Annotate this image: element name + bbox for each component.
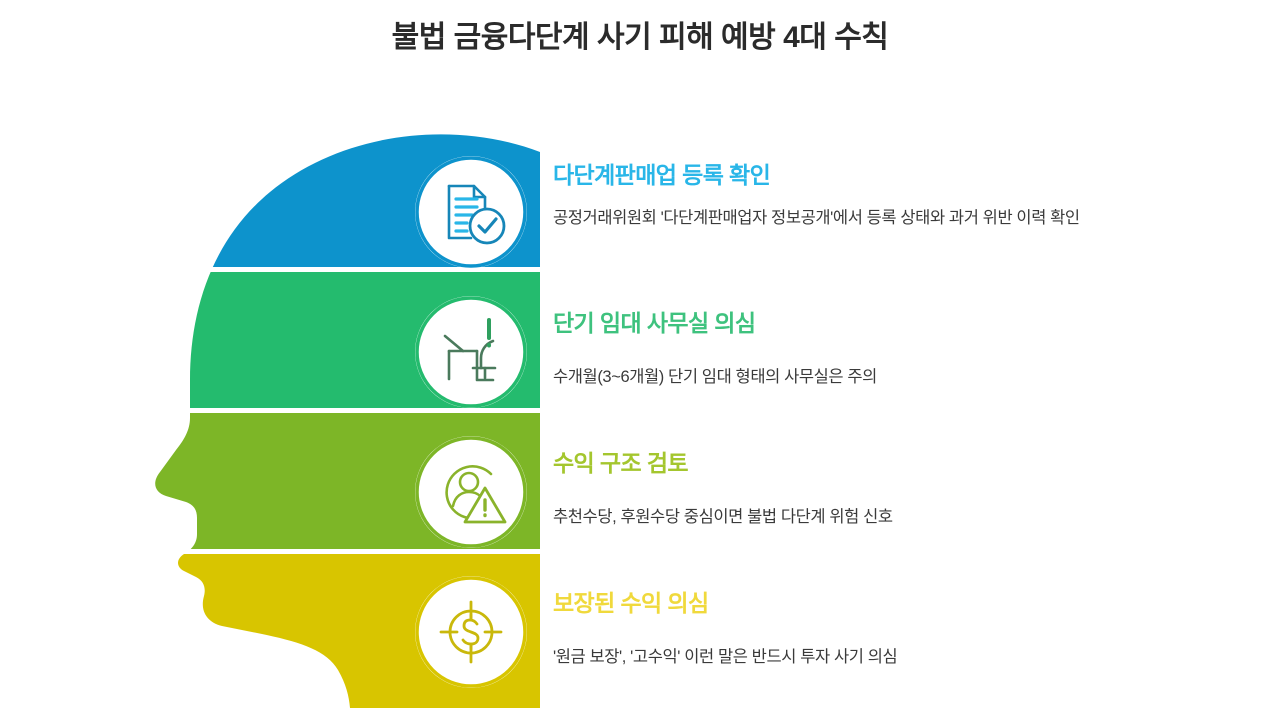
badge-2 bbox=[415, 296, 527, 408]
rule-heading-1: 다단계판매업 등록 확인 bbox=[553, 142, 1253, 190]
rule-row-1: 다단계판매업 등록 확인 공정거래위원회 '다단계판매업자 정보공개'에서 등록… bbox=[415, 142, 1280, 282]
rule-row-3: 수익 구조 검토 추천수당, 후원수당 중심이면 불법 다단계 위험 신호 bbox=[415, 422, 1280, 562]
rule-text-4: 보장된 수익 의심 '원금 보장', '고수익' 이런 말은 반드시 투자 사기… bbox=[553, 562, 1253, 671]
rule-row-4: 보장된 수익 의심 '원금 보장', '고수익' 이런 말은 반드시 투자 사기… bbox=[415, 562, 1280, 702]
rule-heading-3: 수익 구조 검토 bbox=[553, 422, 1253, 478]
rule-description-4: '원금 보장', '고수익' 이런 말은 반드시 투자 사기 의심 bbox=[553, 618, 1253, 671]
infographic-canvas: 불법 금융다단계 사기 피해 예방 4대 수칙 bbox=[0, 0, 1280, 720]
rule-text-3: 수익 구조 검토 추천수당, 후원수당 중심이면 불법 다단계 위험 신호 bbox=[553, 422, 1253, 531]
document-check-icon bbox=[415, 156, 527, 268]
rule-description-3: 추천수당, 후원수당 중심이면 불법 다단계 위험 신호 bbox=[553, 478, 1253, 531]
badge-4 bbox=[415, 576, 527, 688]
rule-text-1: 다단계판매업 등록 확인 공정거래위원회 '다단계판매업자 정보공개'에서 등록… bbox=[553, 142, 1253, 232]
person-warning-icon bbox=[415, 436, 527, 548]
badge-1 bbox=[415, 156, 527, 268]
rule-row-2: 단기 임대 사무실 의심 수개월(3~6개월) 단기 임대 형태의 사무실은 주… bbox=[415, 282, 1280, 422]
dollar-target-icon bbox=[415, 576, 527, 688]
rule-description-1: 공정거래위원회 '다단계판매업자 정보공개'에서 등록 상태와 과거 위반 이력… bbox=[553, 190, 1093, 232]
desk-chair-alert-icon bbox=[415, 296, 527, 408]
rule-text-2: 단기 임대 사무실 의심 수개월(3~6개월) 단기 임대 형태의 사무실은 주… bbox=[553, 282, 1253, 391]
badge-3 bbox=[415, 436, 527, 548]
rule-description-2: 수개월(3~6개월) 단기 임대 형태의 사무실은 주의 bbox=[553, 338, 1253, 391]
rule-heading-2: 단기 임대 사무실 의심 bbox=[553, 282, 1253, 338]
rule-heading-4: 보장된 수익 의심 bbox=[553, 562, 1253, 618]
page-title: 불법 금융다단계 사기 피해 예방 4대 수칙 bbox=[0, 12, 1280, 56]
